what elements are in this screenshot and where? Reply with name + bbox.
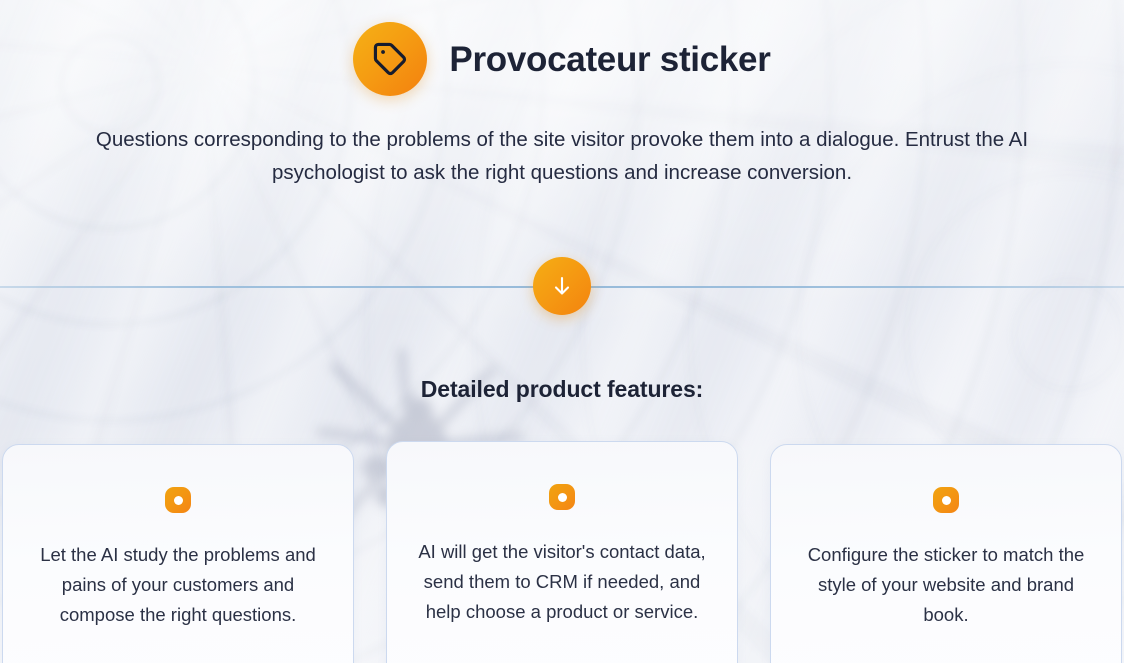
page-title: Provocateur sticker (449, 42, 770, 77)
feature-card: AI will get the visitor's contact data, … (386, 441, 738, 663)
page-header: Provocateur sticker (0, 0, 1124, 96)
dot-square-icon (933, 487, 959, 513)
feature-card-text: Let the AI study the problems and pains … (31, 540, 325, 630)
feature-card-text: Configure the sticker to match the style… (799, 540, 1093, 630)
dot-square-icon-hole (558, 493, 567, 502)
page-subtitle: Questions corresponding to the problems … (82, 96, 1042, 189)
features-heading: Detailed product features: (0, 376, 1124, 403)
scroll-down-button[interactable] (533, 257, 591, 315)
arrow-down-icon (550, 274, 574, 298)
feature-card-text: AI will get the visitor's contact data, … (415, 537, 709, 627)
price-tag-icon (353, 22, 427, 96)
feature-card: Let the AI study the problems and pains … (2, 444, 354, 663)
dot-square-icon (165, 487, 191, 513)
dot-square-icon (549, 484, 575, 510)
feature-card: Configure the sticker to match the style… (770, 444, 1122, 663)
dot-square-icon-hole (942, 496, 951, 505)
feature-card-list: Let the AI study the problems and pains … (0, 441, 1124, 663)
page-root: Provocateur sticker Questions correspond… (0, 0, 1124, 663)
dot-square-icon-hole (174, 496, 183, 505)
